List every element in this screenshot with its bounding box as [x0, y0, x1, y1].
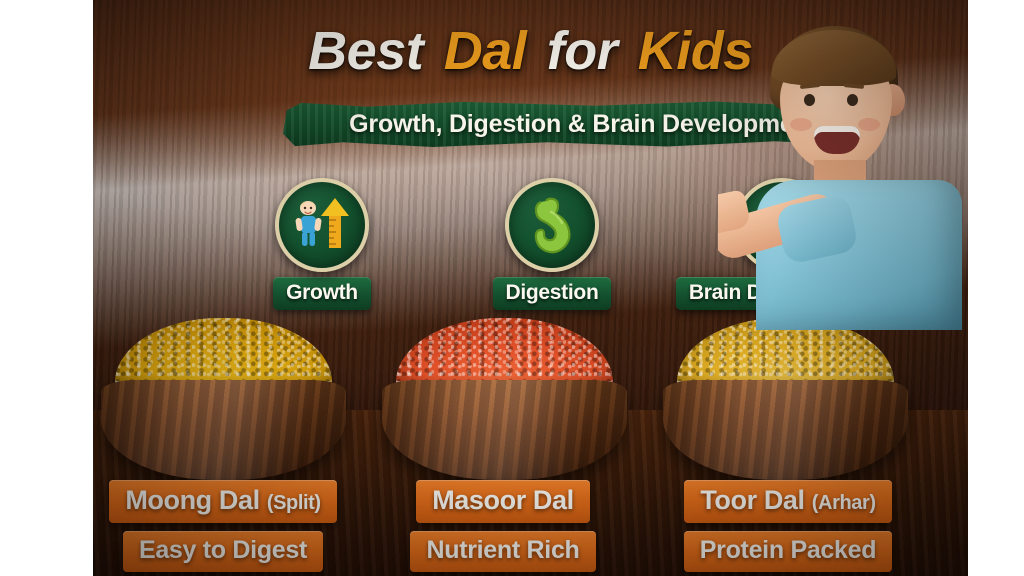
dal-benefit-masoor[interactable]: Nutrient Rich — [410, 531, 595, 572]
label-column-toor: Toor Dal (Arhar) Protein Packed — [658, 480, 918, 572]
dal-name-moong[interactable]: Moong Dal (Split) — [109, 480, 336, 523]
wooden-bowl-icon — [382, 380, 627, 480]
wooden-bowl-icon — [663, 380, 908, 480]
wooden-bowl-icon — [101, 380, 346, 480]
boy-cheek-right — [858, 118, 880, 131]
boy-cheek-left — [790, 118, 812, 131]
badge-digestion-label: Digestion — [493, 277, 612, 310]
bowl-toor-dal[interactable] — [663, 318, 908, 480]
badge-growth-label: Growth — [273, 277, 371, 310]
dal-name-text: Toor Dal — [700, 485, 804, 515]
dal-name-qualifier: (Split) — [267, 492, 321, 514]
label-column-moong: Moong Dal (Split) Easy to Digest — [103, 480, 343, 572]
title-word-for: for — [547, 21, 617, 81]
badge-digestion[interactable]: Digestion — [423, 178, 681, 310]
dal-name-masoor[interactable]: Masoor Dal — [416, 480, 590, 523]
dal-bowl-row — [93, 318, 968, 488]
dal-name-toor[interactable]: Toor Dal (Arhar) — [684, 480, 891, 523]
child-growth-arrow-icon — [291, 196, 353, 254]
label-column-masoor: Masoor Dal Nutrient Rich — [383, 480, 623, 572]
stomach-icon — [524, 196, 580, 254]
dal-name-qualifier: (Arhar) — [812, 492, 876, 514]
bowl-moong-dal[interactable] — [101, 318, 346, 480]
badge-growth[interactable]: Growth — [193, 178, 451, 310]
badge-digestion-circle — [505, 178, 599, 272]
badge-growth-circle — [275, 178, 369, 272]
boy-eye-left — [804, 94, 815, 106]
dal-label-row: Moong Dal (Split) Easy to Digest Masoor … — [93, 480, 968, 576]
title-word-dal: Dal — [444, 21, 527, 81]
bowl-masoor-dal[interactable] — [382, 318, 627, 480]
dal-benefit-toor[interactable]: Protein Packed — [684, 531, 892, 572]
dal-name-text: Moong Dal — [125, 485, 259, 515]
title-word-best: Best — [308, 21, 423, 81]
dal-name-text: Masoor Dal — [432, 485, 574, 515]
boy-eye-right — [847, 94, 858, 106]
boy-fringe — [772, 30, 896, 86]
smiling-boy-photo — [718, 8, 968, 330]
dal-benefit-moong[interactable]: Easy to Digest — [123, 531, 323, 572]
poster-canvas: Best Dal for Kids Growth, Digestion & Br… — [93, 0, 968, 576]
